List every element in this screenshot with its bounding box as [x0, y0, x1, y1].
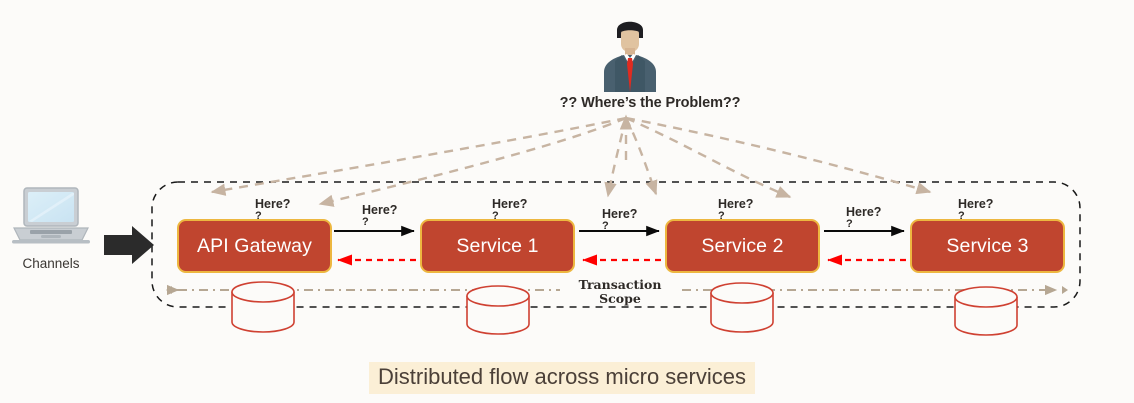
diagram-canvas: ?? Where’s the Problem?? Channels API Ga… — [0, 0, 1134, 403]
here-subquestion: ? — [846, 219, 881, 231]
here-text: Here? — [846, 205, 881, 219]
here-text: Here? — [718, 197, 753, 211]
here-text: Here? — [492, 197, 527, 211]
here-subquestion: ? — [362, 217, 397, 229]
database-cylinder — [711, 283, 773, 332]
probe-arrow-1 — [212, 118, 626, 192]
diagram-caption: Distributed flow across micro services — [369, 362, 755, 394]
txscope-line1: Transaction — [579, 277, 662, 292]
here-text: Here? — [362, 203, 397, 217]
here-text: Here? — [602, 207, 637, 221]
laptop-icon — [10, 186, 92, 248]
here-text: Here? — [958, 197, 993, 211]
service-box-api-gateway[interactable]: API Gateway — [177, 219, 332, 273]
businessman-avatar-icon — [600, 14, 660, 92]
transaction-scope-label: Transaction Scope — [560, 278, 680, 306]
probe-arrow-6 — [626, 118, 930, 192]
probe-arrow-3 — [608, 118, 626, 196]
here-text: Here? — [255, 197, 290, 211]
here-subquestion: ? — [255, 211, 290, 223]
probe-arrow-2 — [320, 118, 626, 204]
here-label-service-3: Here? ? — [958, 198, 993, 223]
channels-arrow — [104, 226, 154, 264]
here-subquestion: ? — [958, 211, 993, 223]
here-label-service-1: Here? ? — [492, 198, 527, 223]
service-box-service-1[interactable]: Service 1 — [420, 219, 575, 273]
here-label-api-gateway: Here? ? — [255, 198, 290, 223]
here-label-s1-s2: Here? ? — [602, 208, 637, 233]
here-subquestion: ? — [602, 221, 637, 233]
database-cylinder — [955, 287, 1017, 335]
here-label-service-2: Here? ? — [718, 198, 753, 223]
here-label-s2-s3: Here? ? — [846, 206, 881, 231]
service-label: API Gateway — [197, 235, 312, 258]
probe-arrow-4 — [626, 118, 656, 194]
service-label: Service 1 — [456, 235, 538, 258]
database-cylinder — [467, 286, 529, 334]
problem-question-label: ?? Where’s the Problem?? — [540, 95, 760, 111]
here-label-gw-s1: Here? ? — [362, 204, 397, 229]
database-cylinder — [232, 282, 294, 332]
channels-label: Channels — [0, 256, 102, 271]
txscope-line2: Scope — [599, 291, 641, 306]
service-label: Service 3 — [946, 235, 1028, 258]
here-subquestion: ? — [492, 211, 527, 223]
probe-arrow-5 — [626, 118, 790, 197]
here-subquestion: ? — [718, 211, 753, 223]
service-box-service-3[interactable]: Service 3 — [910, 219, 1065, 273]
service-label: Service 2 — [701, 235, 783, 258]
service-box-service-2[interactable]: Service 2 — [665, 219, 820, 273]
